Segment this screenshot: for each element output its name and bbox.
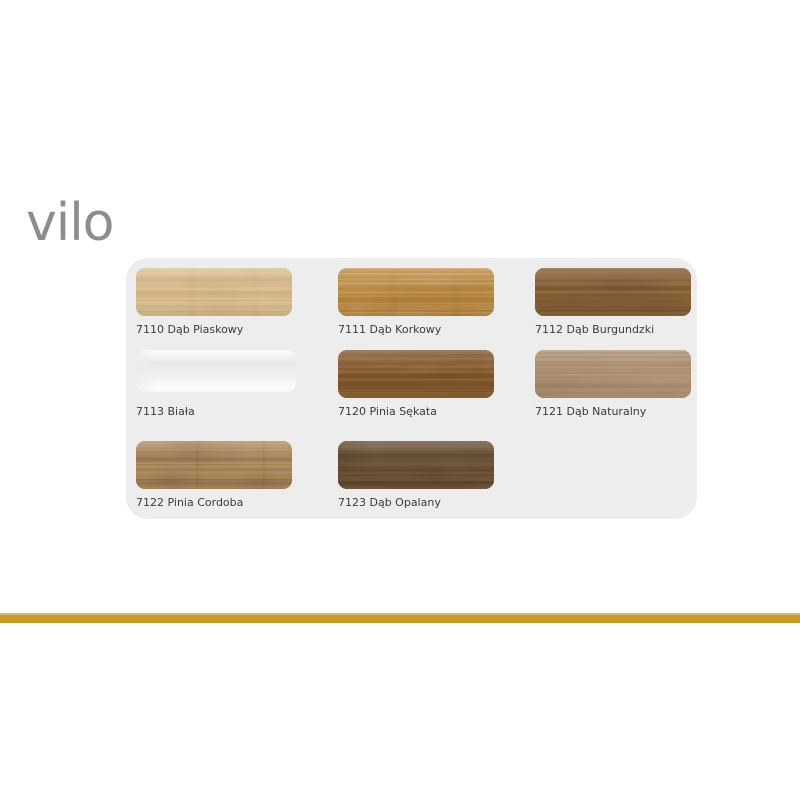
swatch-cell-7111[interactable]: 7111 Dąb Korkowy [338, 268, 506, 337]
vilo-logo-mark: vilo [26, 196, 146, 252]
accent-bar [0, 613, 800, 623]
swatch-cell-7110[interactable]: 7110 Dąb Piaskowy [136, 268, 304, 337]
swatch-label-7121: 7121 Dąb Naturalny [535, 405, 703, 419]
swatch-cell-7122[interactable]: 7122 Pinia Cordoba [136, 441, 304, 510]
swatch-panel: 7110 Dąb Piaskowy7111 Dąb Korkowy7112 Dą… [126, 258, 697, 519]
swatch-chip-7112[interactable] [535, 268, 691, 316]
swatch-cell-7112[interactable]: 7112 Dąb Burgundzki [535, 268, 703, 337]
swatch-grain-texture [535, 268, 691, 316]
swatch-grain-texture [338, 350, 494, 398]
swatch-grain-texture [136, 441, 292, 489]
swatch-grain-texture [136, 268, 292, 316]
vilo-logo-text: vilo [26, 196, 113, 252]
swatch-label-7120: 7120 Pinia Sękata [338, 405, 506, 419]
swatch-cell-7113[interactable]: 7113 Biała [136, 350, 304, 419]
swatch-label-7111: 7111 Dąb Korkowy [338, 323, 506, 337]
swatch-cell-7121[interactable]: 7121 Dąb Naturalny [535, 350, 703, 419]
vilo-logo: vilo [26, 196, 146, 252]
swatch-chip-7120[interactable] [338, 350, 494, 398]
page-root: vilo 7110 Dąb Piaskowy7111 Dąb Korkowy71… [0, 0, 800, 800]
swatch-label-7112: 7112 Dąb Burgundzki [535, 323, 703, 337]
swatch-chip-7110[interactable] [136, 268, 292, 316]
swatch-grid: 7110 Dąb Piaskowy7111 Dąb Korkowy7112 Dą… [126, 258, 697, 519]
swatch-cell-7120[interactable]: 7120 Pinia Sękata [338, 350, 506, 419]
swatch-chip-7111[interactable] [338, 268, 494, 316]
swatch-chip-7123[interactable] [338, 441, 494, 489]
swatch-chip-7113[interactable] [136, 350, 296, 392]
swatch-label-7110: 7110 Dąb Piaskowy [136, 323, 304, 337]
swatch-label-7123: 7123 Dąb Opalany [338, 496, 506, 510]
accent-bar-highlight [0, 613, 800, 615]
swatch-chip-7121[interactable] [535, 350, 691, 398]
swatch-grain-texture [338, 441, 494, 489]
swatch-grain-texture [338, 268, 494, 316]
swatch-chip-7122[interactable] [136, 441, 292, 489]
swatch-label-7122: 7122 Pinia Cordoba [136, 496, 304, 510]
swatch-label-7113: 7113 Biała [136, 405, 304, 419]
swatch-grain-texture [535, 350, 691, 398]
swatch-cell-7123[interactable]: 7123 Dąb Opalany [338, 441, 506, 510]
